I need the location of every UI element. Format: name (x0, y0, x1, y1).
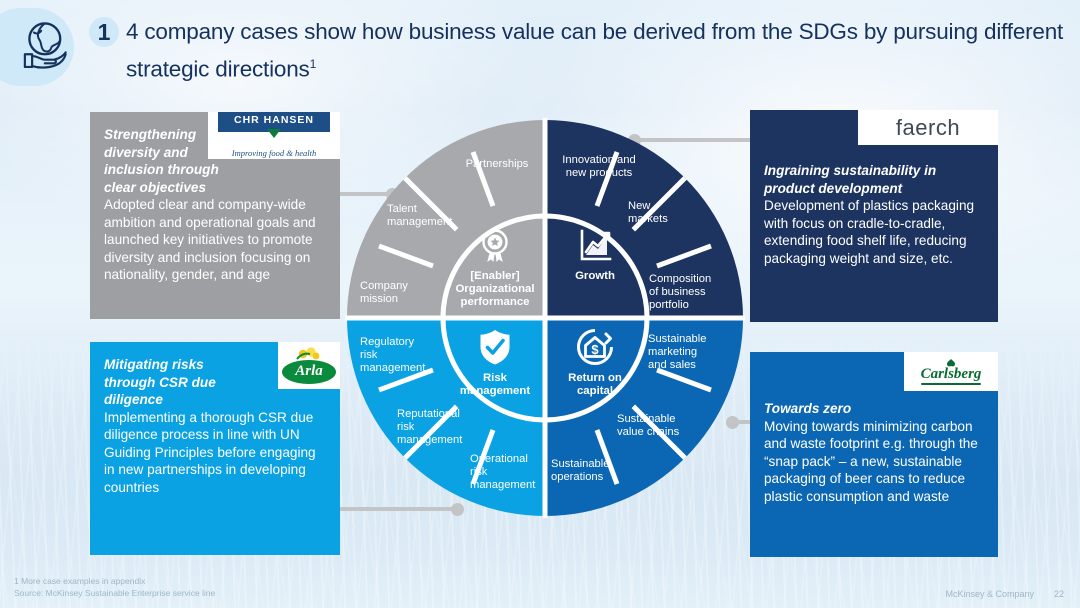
core-risk-management-label: Risk management (460, 372, 530, 398)
brand-label: McKinsey & Company (945, 589, 1034, 599)
svg-text:$: $ (591, 342, 599, 357)
chr-hansen-logo: CHR HANSEN Improving food & health (208, 112, 340, 159)
callout-arla[interactable]: Arla Mitigating risks through CSR due di… (90, 342, 340, 555)
carlsberg-logo-underline (921, 383, 981, 385)
core-op-l3: performance (460, 296, 529, 308)
core-risk-l2: management (460, 385, 530, 397)
core-risk-l1: Risk (483, 372, 507, 384)
title-badge-number: 1 (89, 16, 119, 48)
core-risk-management[interactable]: Risk management (445, 318, 545, 418)
arla-logo-name: Arla (282, 360, 336, 384)
page-number: 22 (1054, 589, 1064, 599)
callout-carlsberg[interactable]: Carlsberg Towards zero Moving towards mi… (750, 352, 998, 557)
callout-faerch-body: Development of plastics packaging with f… (764, 197, 982, 267)
arla-logo-flower-icon (294, 347, 324, 360)
growth-chart-icon (577, 228, 613, 264)
callout-faerch-heading: Ingraining sustainability in product dev… (764, 162, 982, 197)
callout-arla-body: Implementing a thorough CSR due diligenc… (104, 409, 324, 497)
callout-carlsberg-heading: Towards zero (764, 400, 982, 418)
footer-notes: 1 More case examples in appendix Source:… (14, 575, 215, 599)
core-growth-label: Growth (575, 270, 615, 283)
callout-chr-hansen[interactable]: CHR HANSEN Improving food & health Stren… (90, 112, 340, 319)
callout-arla-heading: Mitigating risks through CSR due diligen… (104, 356, 254, 409)
faerch-logo: faerch (858, 110, 998, 145)
dollar-house-circle-icon: $ (576, 328, 614, 366)
core-op-l2: Organizational (455, 283, 534, 295)
slide-canvas: 1 4 company cases show how business valu… (0, 0, 1080, 608)
shield-check-icon (477, 328, 513, 366)
arla-logo: Arla (278, 342, 340, 389)
callout-faerch[interactable]: faerch Ingraining sustainability in prod… (750, 110, 998, 322)
carlsberg-logo: Carlsberg (904, 352, 998, 391)
carlsberg-logo-name: Carlsberg (921, 367, 982, 382)
core-growth[interactable]: Growth (545, 218, 645, 318)
core-roc-l2: capital (577, 385, 613, 397)
page-title: 4 company cases show how business value … (126, 16, 1066, 86)
faerch-logo-name: faerch (896, 119, 960, 137)
page-title-text: 4 company cases show how business value … (126, 19, 1063, 82)
core-organizational-performance-label: [Enabler] Organizational performance (455, 270, 534, 309)
footnote-text: 1 More case examples in appendix (14, 575, 215, 587)
chr-hansen-logo-tagline: Improving food & health (232, 145, 316, 163)
core-op-l1: [Enabler] (470, 270, 519, 282)
callout-chr-hansen-body: Adopted clear and company-wide ambition … (104, 196, 324, 284)
page-title-footnote-marker: 1 (310, 57, 316, 71)
globe-in-hand-icon (14, 18, 72, 76)
business-value-wheel: Partnerships Talent management Company m… (345, 118, 745, 518)
source-text: Source: McKinsey Sustainable Enterprise … (14, 587, 215, 599)
award-ribbon-icon (477, 228, 513, 264)
core-organizational-performance[interactable]: [Enabler] Organizational performance (445, 218, 545, 318)
core-roc-l1: Return on (568, 372, 622, 384)
core-return-on-capital-label: Return on capital (568, 372, 622, 398)
chr-hansen-logo-diamond (267, 129, 281, 138)
callout-carlsberg-body: Moving towards minimizing carbon and was… (764, 418, 982, 506)
core-return-on-capital[interactable]: $ Return on capital (545, 318, 645, 418)
